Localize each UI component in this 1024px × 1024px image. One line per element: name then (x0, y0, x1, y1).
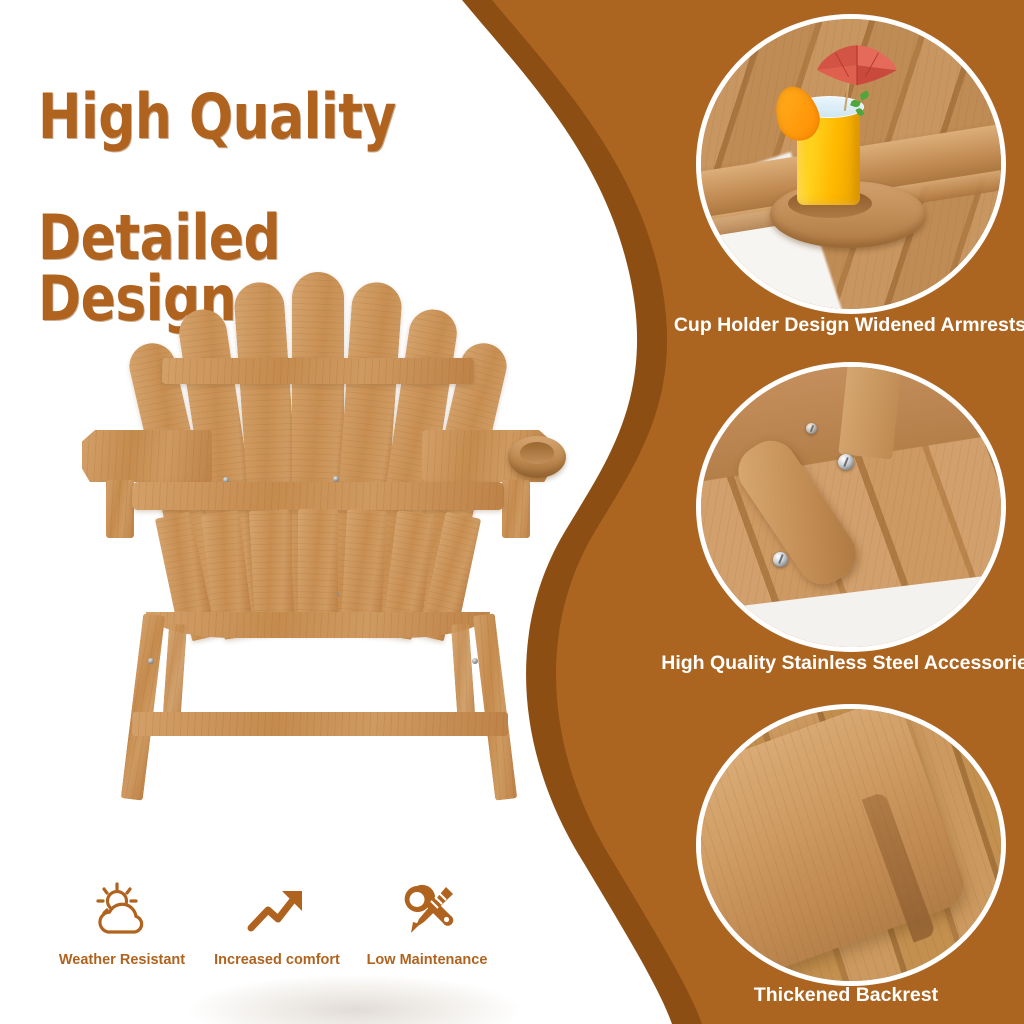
wood-grain-overlay (696, 704, 1006, 986)
backrest-scene (701, 709, 1001, 981)
callout-cup-holder: Cup Holder Design Widened Armrests (690, 10, 1010, 350)
trend-up-arrow-icon (192, 880, 362, 942)
feature-label: Increased comfort (192, 952, 362, 968)
right-arm-support (502, 480, 530, 538)
wrench-screwdriver-icon (342, 880, 512, 942)
seat-slat-5 (341, 509, 387, 629)
callout-thickened-backrest: Thickened Backrest (690, 700, 1010, 1024)
feature-item-low-maintenance: Low Maintenance (342, 880, 512, 968)
left-front-leg (163, 623, 187, 714)
cup-holder-hole (520, 442, 554, 464)
callout-backrest-label: Thickened Backrest (696, 984, 996, 1007)
feature-label: Low Maintenance (342, 952, 512, 968)
left-arm-support (106, 480, 134, 538)
feature-row: Weather Resistant Increased comfort (42, 880, 512, 1000)
right-rear-leg (473, 613, 518, 800)
seat-bottom-rail (146, 612, 490, 638)
callout-backrest-photo (696, 704, 1006, 986)
feature-item-weather-resistant: Weather Resistant (42, 880, 202, 968)
left-armrest (82, 430, 212, 482)
title-line-1: High Quality (38, 87, 475, 148)
screw-icon (472, 658, 478, 664)
leg-cross-brace (132, 712, 508, 736)
left-rear-leg (121, 613, 166, 800)
callout-stainless-label: High Quality Stainless Steel Accessories (614, 652, 1024, 675)
stainless-screw-icon (773, 552, 788, 567)
cocktail-umbrella-icon (815, 42, 899, 88)
sun-cloud-icon (42, 880, 202, 942)
stainless-screw-icon (806, 423, 817, 434)
hero-product-image (70, 230, 540, 830)
callout-stainless-photo (696, 362, 1006, 652)
hinge-scene (701, 367, 1001, 647)
callout-stainless-accessories: High Quality Stainless Steel Accessories (690, 358, 1010, 688)
seat-front-rail (132, 482, 504, 510)
feature-label: Weather Resistant (42, 952, 202, 968)
right-front-leg (451, 623, 475, 714)
feature-item-increased-comfort: Increased comfort (192, 880, 362, 968)
adirondack-chair (70, 230, 540, 830)
cup-holder-scene (701, 19, 1001, 309)
screw-icon (148, 658, 154, 664)
seat-slat-4 (298, 509, 338, 628)
callout-cup-holder-photo (696, 14, 1006, 314)
marketing-infographic: High Quality Detailed Design (0, 0, 1024, 1024)
stainless-screw-icon (838, 454, 854, 470)
seat-slat-3 (249, 509, 295, 629)
callout-cup-holder-label: Cup Holder Design Widened Armrests (658, 314, 1024, 337)
upper-back-rail (162, 358, 474, 384)
